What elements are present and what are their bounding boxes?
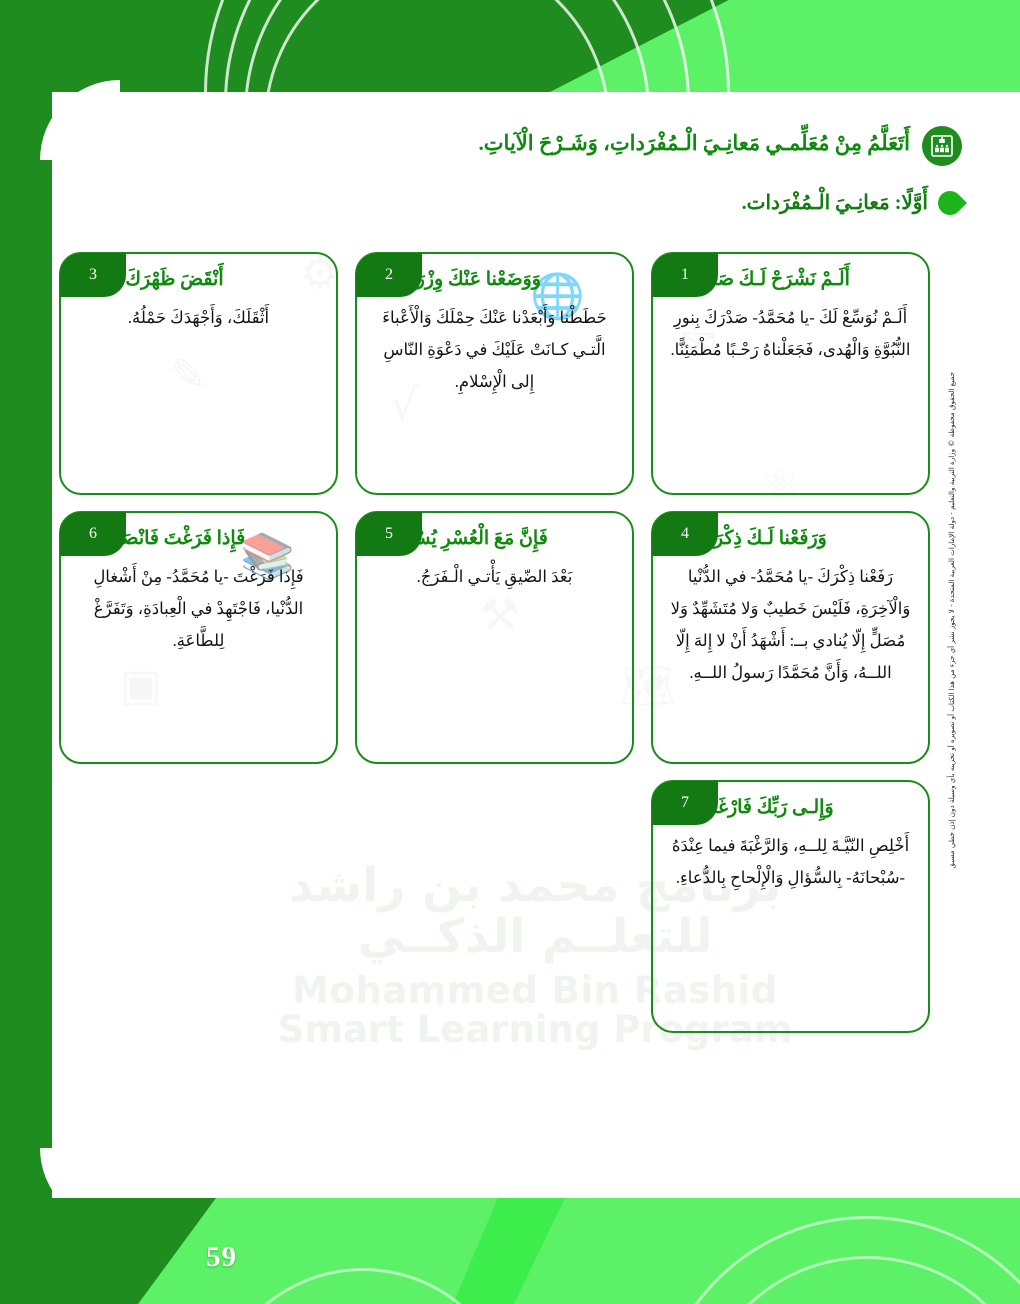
top-arc-decor bbox=[270, 0, 690, 92]
content-corner-top-left bbox=[40, 80, 120, 160]
card-number-badge: 7 bbox=[652, 781, 718, 825]
card-number-badge: 2 bbox=[356, 253, 422, 297]
card-body-text: بَعْدَ الضّيقِ يَأْتـي الْـفَرَجُ. bbox=[371, 561, 618, 593]
leaf-bullet-icon bbox=[933, 186, 967, 220]
card-body-text: رَفَعْنا ذِكْرَكَ -يا مُحَمَّدُ- في الدُ… bbox=[667, 561, 914, 690]
card-number-badge: 6 bbox=[60, 512, 126, 556]
side-copyright-note: جميع الحقوق محفوظة © وزارة التربية والتع… bbox=[948, 270, 957, 970]
subsection-heading: أَوَّلًا: مَعانِـيَ الْـمُفْرَدات. bbox=[402, 190, 962, 215]
top-decor-band bbox=[0, 0, 1020, 92]
page-number: 59 bbox=[206, 1241, 237, 1274]
card-number-badge: 1 bbox=[652, 253, 718, 297]
card-row-1: 1 أَلَـمْ نَشْرَحْ لَـكَ صَدْرَكَ أَلَـم… bbox=[58, 252, 930, 495]
card-number-badge: 3 bbox=[60, 253, 126, 297]
card-row-3: 7 وَإِلـى رَبِّكَ فَارْغَبْ أَخْلِصِ الن… bbox=[58, 780, 930, 1033]
card-row-2: 4 وَرَفَعْنا لَـكَ ذِكْرَكَ رَفَعْنا ذِك… bbox=[58, 511, 930, 764]
grid-empty-slot bbox=[355, 780, 634, 1033]
grid-empty-slot bbox=[59, 780, 338, 1033]
vocabulary-card[interactable]: 5 فَإِنَّ مَعَ الْعُسْرِ يُسْـرًا بَعْدَ… bbox=[355, 511, 634, 764]
classroom-teaching-icon bbox=[922, 126, 962, 166]
section-heading: أَتَعَلَّمُ مِنْ مُعَلِّمـي مَعانِـيَ ال… bbox=[402, 124, 962, 166]
subsection-heading-text: أَوَّلًا: مَعانِـيَ الْـمُفْرَدات. bbox=[742, 190, 928, 215]
vocabulary-card[interactable]: 1 أَلَـمْ نَشْرَحْ لَـكَ صَدْرَكَ أَلَـم… bbox=[651, 252, 930, 495]
vocabulary-card-grid: 1 أَلَـمْ نَشْرَحْ لَـكَ صَدْرَكَ أَلَـم… bbox=[58, 252, 930, 1033]
vocabulary-card[interactable]: 3 أَنْقَضَ ظَهْرَكَ أَثْقَلَكَ، وَأَجْهَ… bbox=[59, 252, 338, 495]
left-decor-band bbox=[0, 0, 52, 1304]
section-heading-text: أَتَعَلَّمُ مِنْ مُعَلِّمـي مَعانِـيَ ال… bbox=[479, 124, 910, 158]
card-body-text: حَطَطْنا وَأَبْعَدْنا عَنْكَ حِمْلَكَ وَ… bbox=[371, 302, 618, 399]
bottom-decor-band bbox=[0, 1198, 1020, 1304]
vocabulary-card[interactable]: 2 وَوَضَعْنا عَنْكَ وِزْرَكَ حَطَطْنا وَ… bbox=[355, 252, 634, 495]
arc-line bbox=[264, 0, 610, 92]
vocabulary-card[interactable]: 7 وَإِلـى رَبِّكَ فَارْغَبْ أَخْلِصِ الن… bbox=[651, 780, 930, 1033]
card-body-text: فَإِذا فَرَغْتَ -يا مُحَمَّدُ- مِنْ أَشْ… bbox=[75, 561, 322, 658]
card-body-text: أَثْقَلَكَ، وَأَجْهَدَكَ حَمْلُهُ. bbox=[75, 302, 322, 334]
page-root: برنامج محمد بن راشد للتعلــم الذكــي Moh… bbox=[0, 0, 1020, 1304]
vocabulary-card[interactable]: 4 وَرَفَعْنا لَـكَ ذِكْرَكَ رَفَعْنا ذِك… bbox=[651, 511, 930, 764]
card-body-text: أَلَـمْ نُوَسِّعْ لَكَ -يا مُحَمَّدُ- صَ… bbox=[667, 302, 914, 366]
card-body-text: أَخْلِصِ النّيَّـةَ لِلــهِ، وَالرَّغْبَ… bbox=[667, 830, 914, 894]
card-number-badge: 4 bbox=[652, 512, 718, 556]
bottom-dark-wedge bbox=[0, 1198, 300, 1304]
vocabulary-card[interactable]: 6 فَإِذا فَرَغْتَ فَانْصَبْ فَإِذا فَرَغ… bbox=[59, 511, 338, 764]
card-number-badge: 5 bbox=[356, 512, 422, 556]
